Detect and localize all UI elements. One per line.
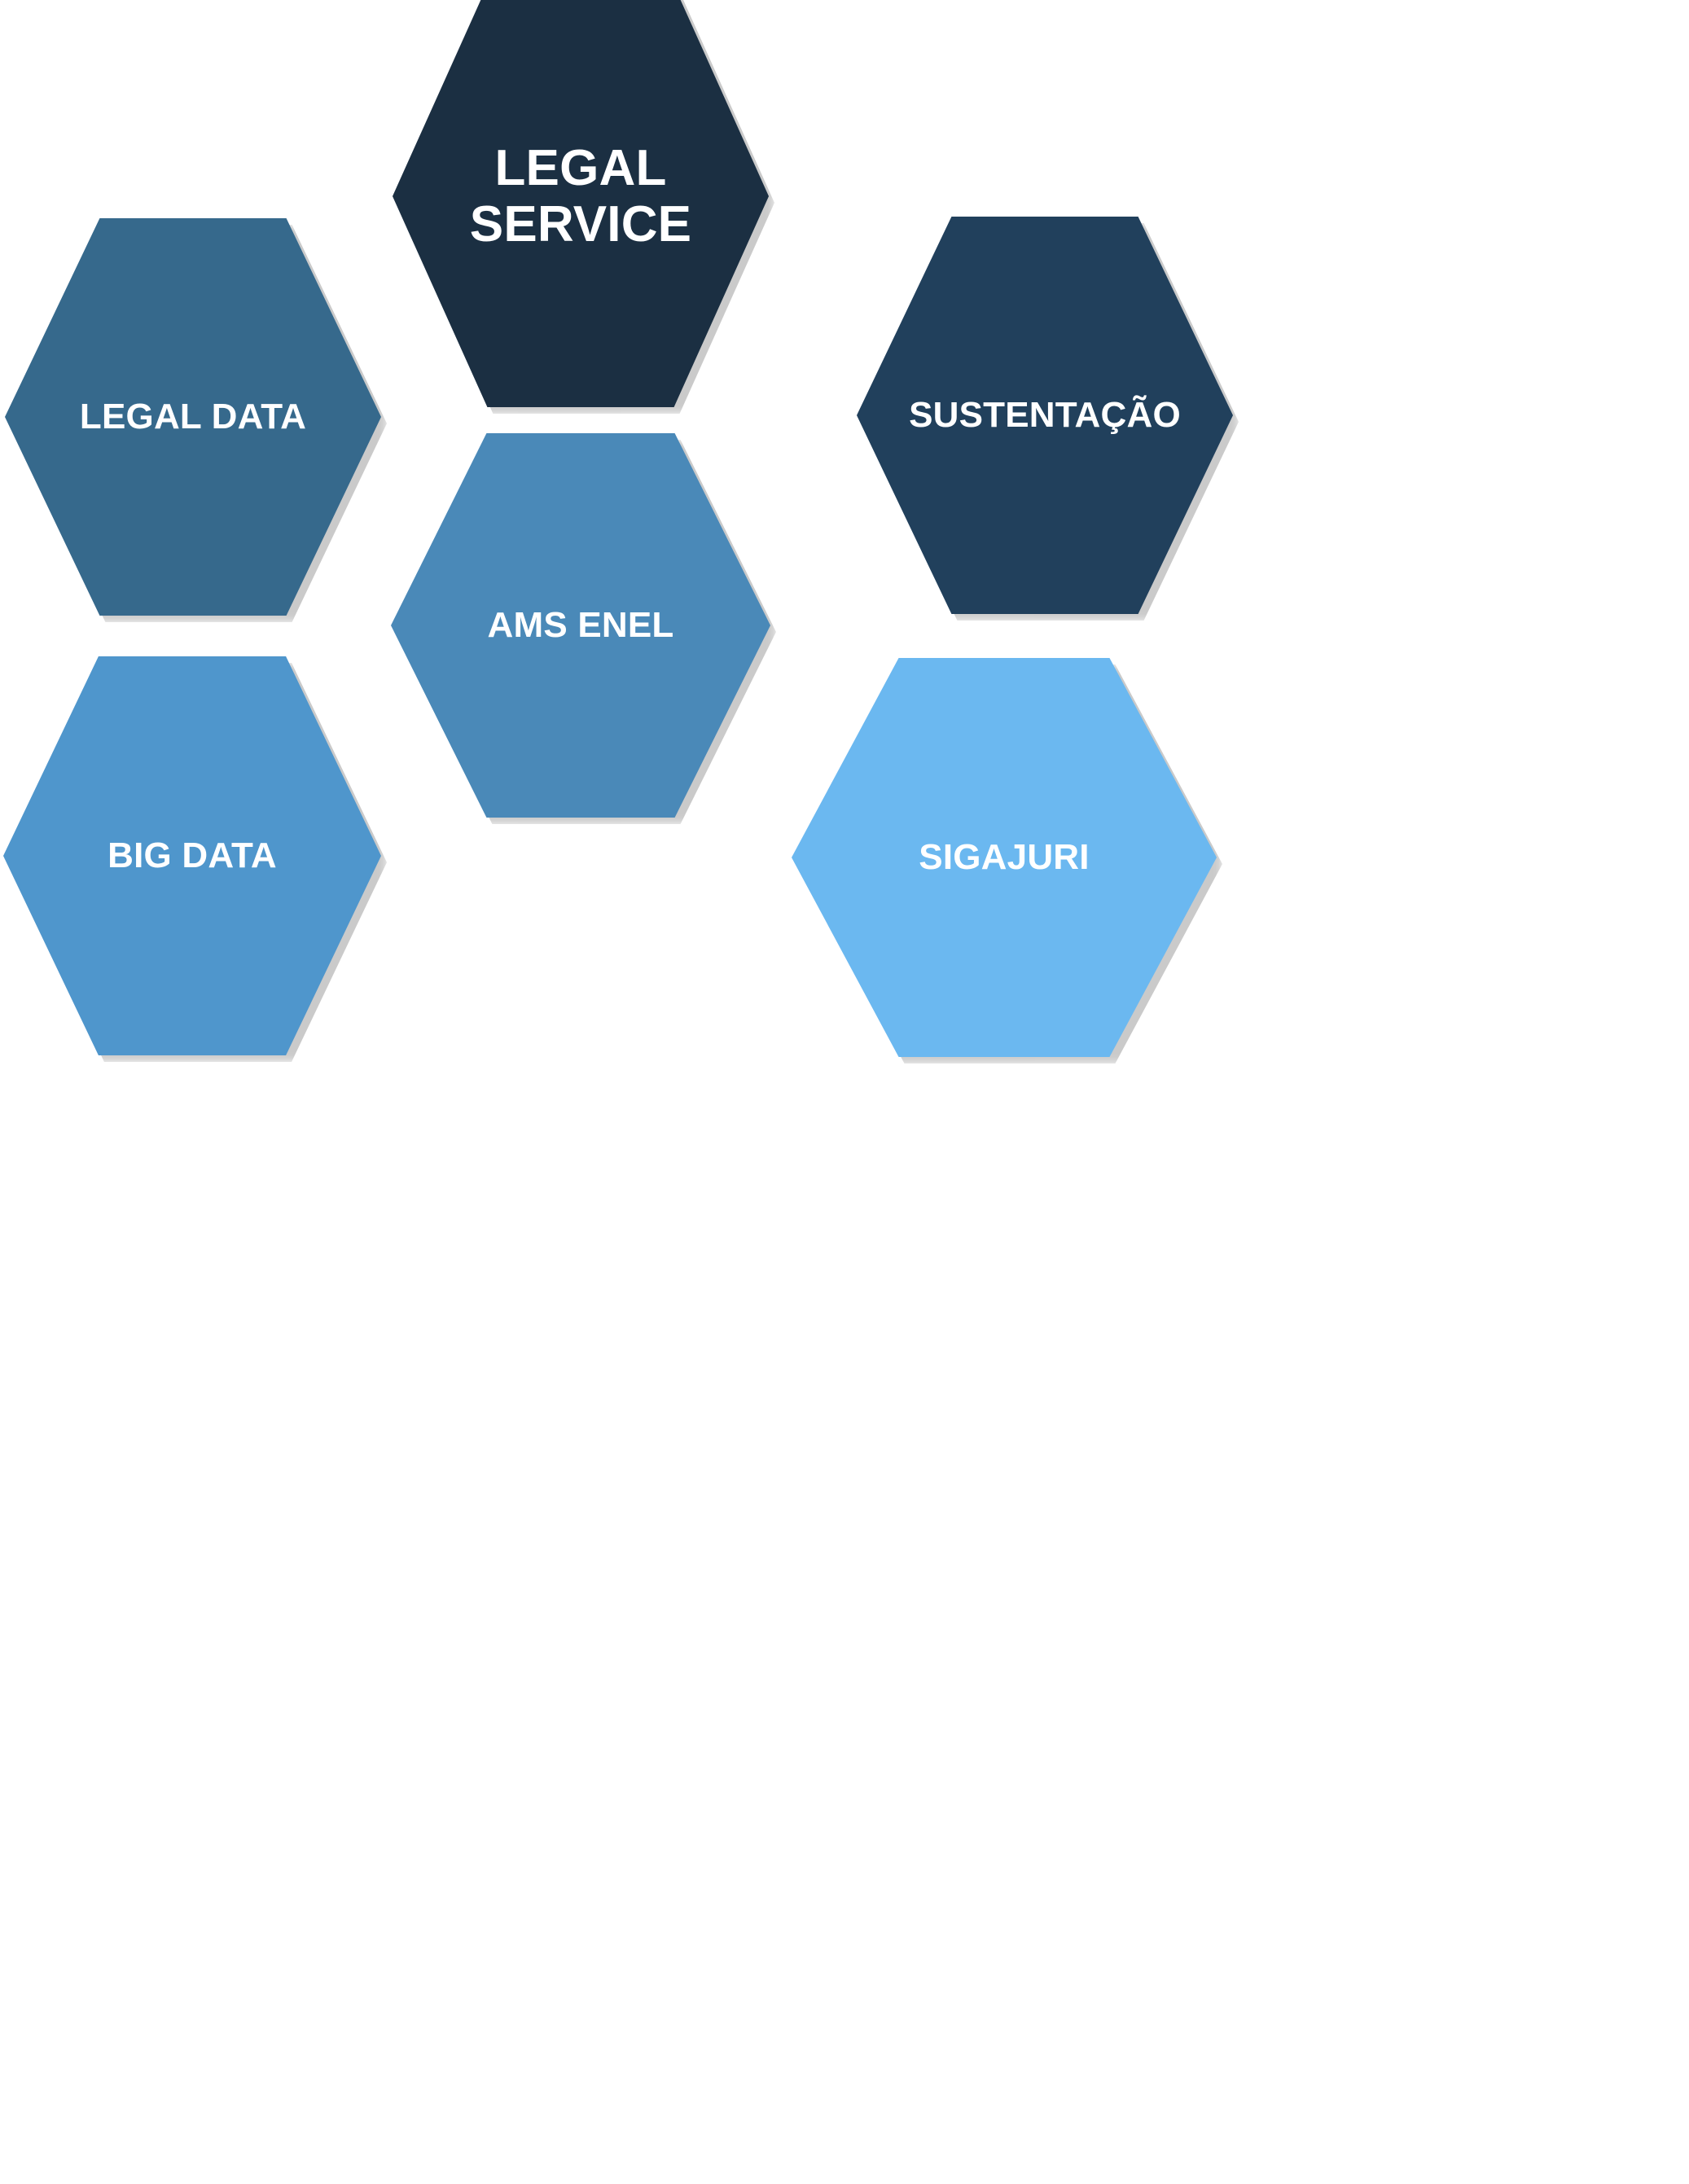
hex-tile-ams-enel[interactable]: AMS ENEL	[391, 433, 770, 818]
hex-tile-sustentacao[interactable]: SUSTENTAÇÃO	[857, 217, 1233, 614]
hex-label-big-data: BIG DATA	[85, 835, 299, 875]
hex-label-legal-service: LEGAL SERVICE	[447, 140, 714, 253]
hexagon-diagram-canvas: LEGAL SERVICE LEGAL DATA SUSTENTAÇÃO AMS…	[0, 0, 1689, 2184]
hex-label-sustentacao: SUSTENTAÇÃO	[886, 395, 1203, 435]
hex-tile-sigajuri[interactable]: SIGAJURI	[792, 658, 1217, 1057]
hex-tile-legal-data[interactable]: LEGAL DATA	[5, 218, 381, 616]
hex-label-sigajuri: SIGAJURI	[893, 837, 1115, 877]
hex-label-legal-data: LEGAL DATA	[57, 397, 329, 436]
hex-tile-big-data[interactable]: BIG DATA	[3, 656, 381, 1055]
hex-label-ams-enel: AMS ENEL	[465, 605, 697, 645]
hex-tile-legal-service[interactable]: LEGAL SERVICE	[393, 0, 769, 407]
